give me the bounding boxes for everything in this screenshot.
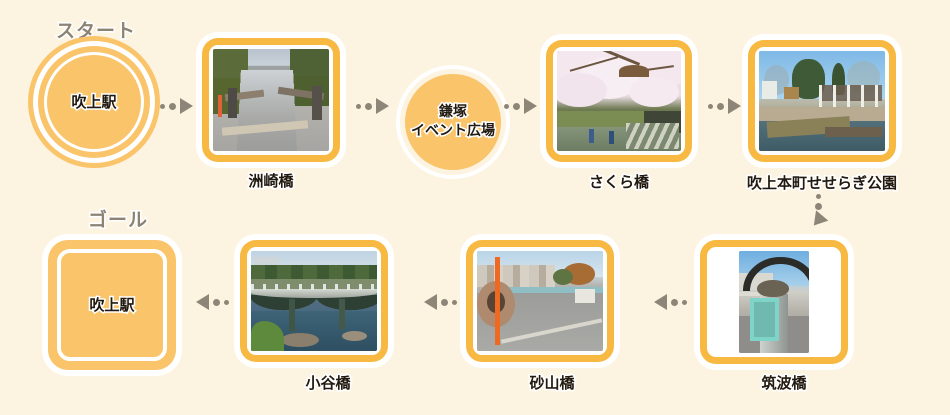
card-sunayamabashi[interactable]	[466, 240, 614, 362]
arrow-dot-small	[224, 300, 229, 305]
card-kotanibashi[interactable]	[240, 240, 388, 362]
plaza-label: 鎌塚 イベント広場	[405, 103, 501, 141]
card-suzakibashi[interactable]	[202, 38, 340, 162]
arrow-start-to-suzaki	[160, 98, 193, 114]
photo-frame	[755, 47, 889, 155]
card-label-kotanibashi: 小谷橋	[305, 372, 350, 393]
arrow-dot-large	[513, 103, 520, 110]
arrow-dot-small	[504, 104, 509, 109]
goal-station-label: 吹上駅	[48, 295, 176, 315]
node-kamatsuka-plaza[interactable]: 鎌塚 イベント広場	[405, 74, 501, 170]
arrow-dot-large	[169, 103, 176, 110]
arrow-sunayama-to-kotani	[424, 294, 457, 310]
photo-frame	[247, 247, 381, 355]
node-start-station[interactable]: 吹上駅	[38, 46, 150, 158]
plaza-label-line2: イベント広場	[405, 122, 501, 141]
arrow-head-icon	[728, 98, 741, 114]
arrow-plaza-to-sakura	[504, 98, 537, 114]
walking-route-map: スタート 吹上駅 洲崎橋 鎌塚 イ	[0, 0, 950, 415]
arrow-suzaki-to-plaza	[356, 98, 389, 114]
arrow-dot-large	[717, 103, 724, 110]
arrow-dot-small	[452, 300, 457, 305]
suzaki-bridge-photo	[213, 49, 329, 151]
photo-frame	[553, 47, 685, 155]
card-sakurabashi[interactable]	[546, 40, 692, 162]
start-heading: スタート	[56, 16, 136, 43]
card-label-tsukubabashi: 筑波橋	[761, 372, 806, 393]
node-goal-station[interactable]: 吹上駅	[48, 240, 176, 370]
arrow-head-icon	[524, 98, 537, 114]
arrow-dot-small	[356, 104, 361, 109]
arrow-dot-small	[816, 194, 821, 199]
arrow-dot-large	[441, 299, 448, 306]
kotani-bridge-photo	[251, 251, 377, 351]
arrow-dot-large	[365, 103, 372, 110]
arrow-head-icon	[376, 98, 389, 114]
card-label-suzakibashi: 洲崎橋	[248, 170, 293, 191]
sunayama-bridge-photo	[477, 251, 603, 351]
photo-frame	[473, 247, 607, 355]
arrow-dot-large	[213, 299, 220, 306]
arrow-dot-small	[682, 300, 687, 305]
arrow-dot-small	[160, 104, 165, 109]
start-station-label: 吹上駅	[38, 92, 150, 112]
arrow-dot-small	[708, 104, 713, 109]
arrow-tsukuba-to-sunayama	[654, 294, 687, 310]
arrow-dot-large	[671, 299, 678, 306]
arrow-head-icon	[654, 294, 667, 310]
arrow-head-icon	[180, 98, 193, 114]
goal-heading: ゴール	[88, 205, 148, 232]
card-label-seseragi-park: 吹上本町せせらぎ公園	[747, 172, 897, 193]
arrow-head-icon	[808, 210, 829, 230]
card-label-sunayamabashi: 砂山橋	[529, 372, 574, 393]
arrow-sakura-to-seseragi	[708, 98, 741, 114]
plaza-label-line1: 鎌塚	[405, 103, 501, 122]
photo-frame	[707, 247, 841, 357]
tsukuba-bridge-photo	[739, 251, 810, 353]
card-seseragi-park[interactable]	[748, 40, 896, 162]
photo-frame	[209, 45, 333, 155]
card-tsukubabashi[interactable]	[700, 240, 848, 364]
arrow-dot-large	[815, 203, 822, 210]
arrow-head-icon	[424, 294, 437, 310]
sakura-bridge-photo	[557, 51, 681, 151]
card-label-sakurabashi: さくら橋	[589, 171, 649, 192]
arrow-seseragi-to-tsukuba	[810, 194, 826, 227]
seseragi-park-photo	[759, 51, 885, 151]
arrow-head-icon	[196, 294, 209, 310]
arrow-kotani-to-goal	[196, 294, 229, 310]
